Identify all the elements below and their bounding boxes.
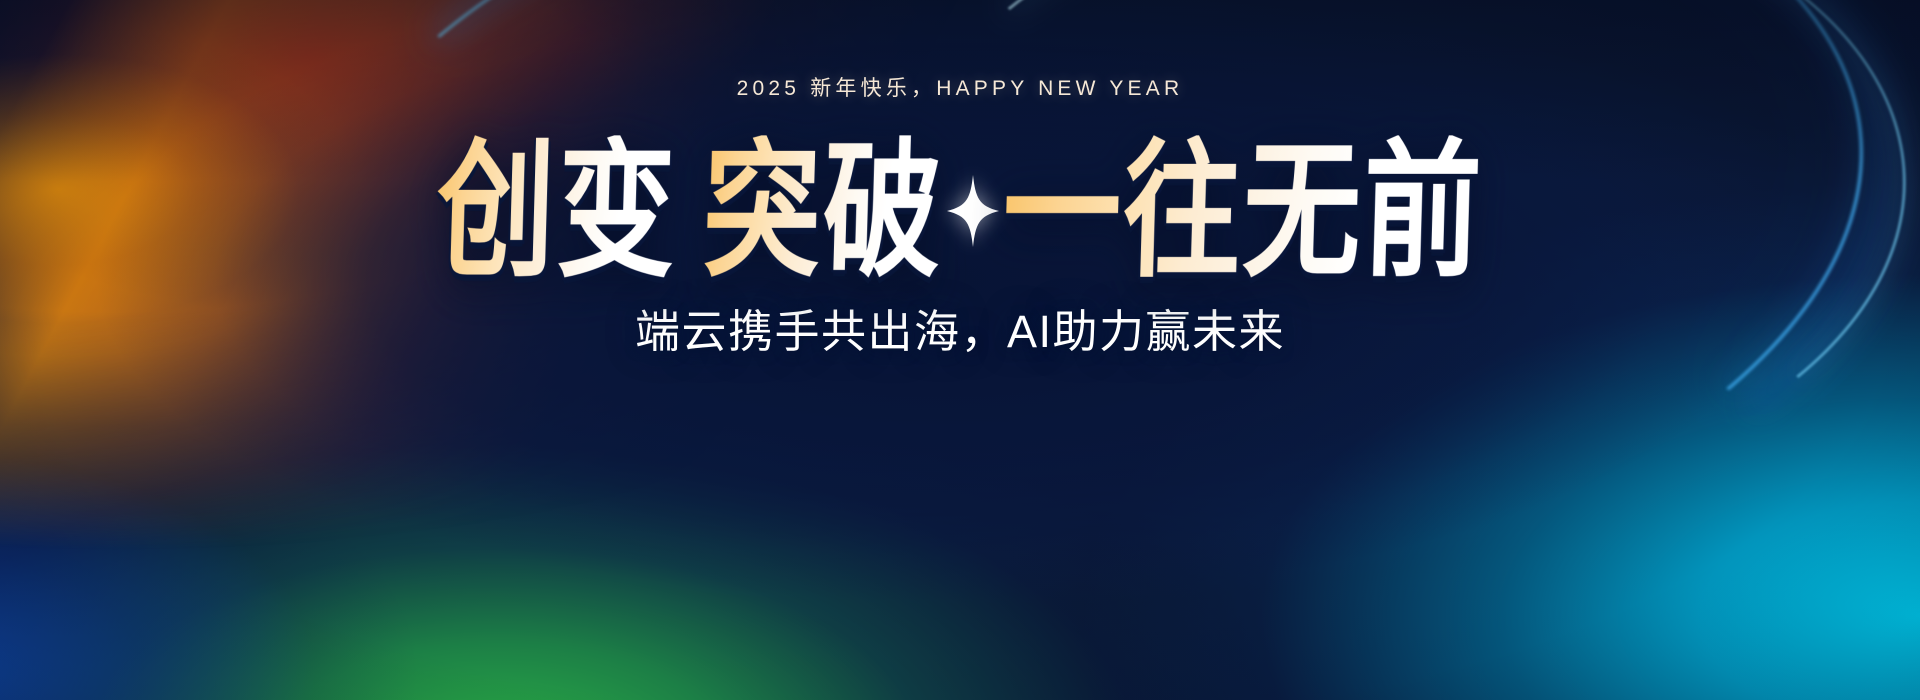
headline-part-2: 突破 xyxy=(701,135,945,287)
headline-part-3: 一往无前 xyxy=(1001,135,1485,287)
subtitle-text: 端云携手共出海，AI助力赢未来 xyxy=(635,307,1285,357)
banner-content: 2025 新年快乐，HAPPY NEW YEAR 创变 突破 一往无前 端云携手… xyxy=(0,0,1920,700)
sparkle-four-point-icon xyxy=(947,169,999,253)
greeting-eyebrow-text: 2025 新年快乐，HAPPY NEW YEAR xyxy=(737,78,1184,99)
headline: 创变 突破 一往无前 xyxy=(437,151,1483,271)
new-year-promo-banner: 2025 新年快乐，HAPPY NEW YEAR 创变 突破 一往无前 端云携手… xyxy=(0,0,1920,700)
headline-part-1: 创变 xyxy=(435,135,679,287)
